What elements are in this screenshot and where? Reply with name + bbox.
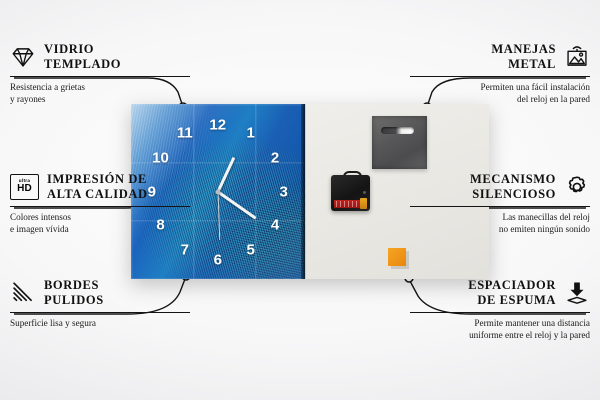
- callout-rule: [410, 76, 590, 77]
- clock-numeral-7: 7: [181, 243, 189, 258]
- hanger-slot: [381, 127, 414, 134]
- callout-header: ESPACIADOR DE ESPUMA: [410, 278, 590, 308]
- callout-subtitle: Superficie lisa y segura: [10, 317, 190, 329]
- callout-vidrio-templado: VIDRIO TEMPLADO Resistencia a grietas y …: [10, 42, 190, 106]
- callout-title: VIDRIO TEMPLADO: [44, 42, 121, 72]
- mechanism-battery: [360, 198, 367, 209]
- clock-numeral-10: 10: [152, 151, 169, 166]
- mechanism-label-ticks: [336, 201, 360, 207]
- infographic-canvas: 12 1 2 3 4 5 6 7 8 9 10 11: [0, 0, 600, 400]
- clock-numeral-3: 3: [280, 184, 288, 199]
- callout-header: ultra HD IMPRESIÓN DE ALTA CALIDAD: [10, 172, 190, 202]
- clock-numeral-5: 5: [247, 243, 255, 258]
- callout-title: ESPACIADOR DE ESPUMA: [468, 278, 556, 308]
- callout-rule: [10, 312, 190, 313]
- callout-mecanismo-silencioso: MECANISMO SILENCIOSO Las manecillas del …: [410, 172, 590, 236]
- diamond-icon: [10, 44, 36, 70]
- callout-subtitle: Permiten una fácil instalación del reloj…: [410, 81, 590, 106]
- mechanism-body: [331, 175, 370, 211]
- callout-title: BORDES PULIDOS: [44, 278, 104, 308]
- callout-header: MANEJAS METAL: [410, 42, 590, 72]
- callout-header: MECANISMO SILENCIOSO: [410, 172, 590, 202]
- clock-numeral-11: 11: [177, 125, 193, 140]
- clock-numeral-1: 1: [247, 125, 255, 140]
- mechanism-dot: [363, 191, 366, 194]
- metal-hanger-plate: [372, 116, 427, 169]
- callout-espaciador-espuma: ESPACIADOR DE ESPUMA Permite mantener un…: [410, 278, 590, 342]
- callout-impresion-alta-calidad: ultra HD IMPRESIÓN DE ALTA CALIDAD Color…: [10, 172, 190, 236]
- callout-rule: [10, 76, 190, 77]
- wall-frame-hook-icon: [564, 44, 590, 70]
- callout-subtitle: Las manecillas del reloj no emiten ningú…: [410, 211, 590, 236]
- arrow-down-stack-icon: [564, 280, 590, 306]
- clock-center-cap: [215, 189, 220, 194]
- ultra-hd-icon-main-text: HD: [17, 184, 32, 194]
- callout-subtitle: Colores intensos e imagen vívida: [10, 211, 190, 236]
- clock-numeral-2: 2: [271, 151, 279, 166]
- polished-edge-icon: [10, 280, 36, 306]
- ultra-hd-icon: ultra HD: [10, 174, 39, 200]
- gear-icon: [564, 174, 590, 200]
- clock-mechanism: [331, 171, 370, 211]
- mechanism-label: [334, 200, 362, 208]
- callout-subtitle: Permite mantener una distancia uniforme …: [410, 317, 590, 342]
- callout-rule: [410, 312, 590, 313]
- callout-title: MECANISMO SILENCIOSO: [470, 172, 556, 202]
- callout-title: IMPRESIÓN DE ALTA CALIDAD: [47, 172, 148, 202]
- callout-bordes-pulidos: BORDES PULIDOS Superficie lisa y segura: [10, 278, 190, 329]
- callout-header: BORDES PULIDOS: [10, 278, 190, 308]
- clock-numeral-12: 12: [209, 118, 226, 133]
- callout-header: VIDRIO TEMPLADO: [10, 42, 190, 72]
- callout-rule: [10, 206, 190, 207]
- callout-subtitle: Resistencia a grietas y rayones: [10, 81, 190, 106]
- callout-rule: [410, 206, 590, 207]
- callout-title: MANEJAS METAL: [491, 42, 556, 72]
- foam-spacer: [388, 248, 406, 266]
- clock-numeral-6: 6: [214, 252, 222, 267]
- callout-manejas-metal: MANEJAS METAL Permiten una fácil instala…: [410, 42, 590, 106]
- clock-numeral-4: 4: [271, 217, 279, 232]
